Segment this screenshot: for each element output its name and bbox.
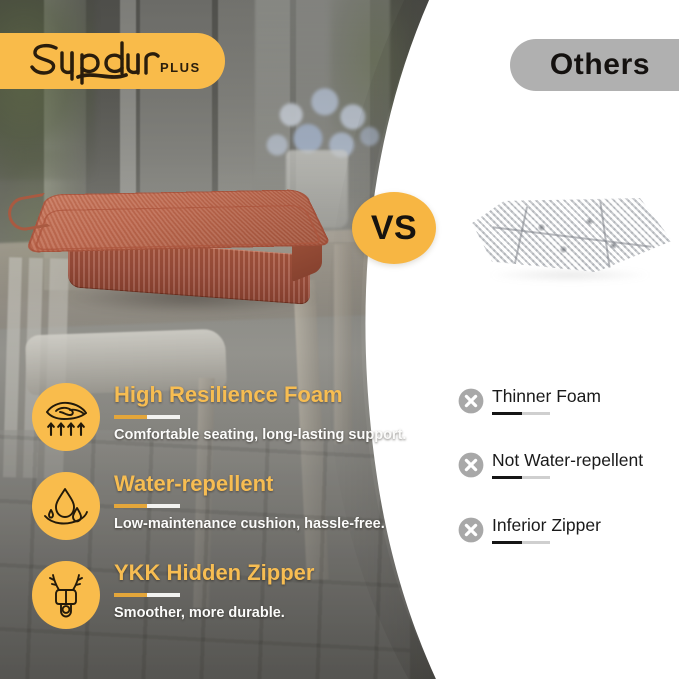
con-text-block: Thinner Foam (492, 384, 679, 415)
comparison-infographic: Others VS (0, 0, 679, 679)
hand-pressing-foam-icon (32, 383, 100, 451)
vs-label: VS (371, 209, 417, 248)
con-title: Thinner Foam (492, 384, 679, 408)
feature-item-high-resilience-foam: High Resilience Foam Comfortable seating… (32, 381, 428, 455)
con-item-inferior-zipper: Inferior Zipper (450, 515, 679, 567)
supdur-wordmark-icon (26, 39, 176, 85)
x-circle-icon (458, 388, 484, 414)
feature-title: Water-repellent (114, 470, 426, 498)
feature-text-block: YKK Hidden Zipper Smoother, more durable… (114, 559, 426, 623)
feature-text-block: High Resilience Foam Comfortable seating… (114, 381, 426, 445)
con-divider-rule (492, 412, 550, 415)
cons-list: Thinner Foam Not Water-repellent (450, 0, 679, 679)
feature-title: High Resilience Foam (114, 381, 426, 409)
x-circle-icon (458, 452, 484, 478)
logo-plus-label: PLUS (160, 60, 201, 75)
feature-subtitle: Low-maintenance cushion, hassle-free. (114, 515, 426, 534)
feature-divider-rule (114, 504, 180, 508)
feature-subtitle: Smoother, more durable. (114, 604, 426, 623)
feature-divider-rule (114, 593, 180, 597)
water-droplet-repel-icon (32, 472, 100, 540)
con-title: Not Water-repellent (492, 448, 679, 472)
con-item-not-water-repellent: Not Water-repellent (450, 450, 679, 502)
con-divider-rule (492, 476, 550, 479)
x-circle-icon (458, 517, 484, 543)
con-text-block: Inferior Zipper (492, 513, 679, 544)
feature-title: YKK Hidden Zipper (114, 559, 426, 587)
feature-item-water-repellent: Water-repellent Low-maintenance cushion,… (32, 470, 428, 544)
con-text-block: Not Water-repellent (492, 448, 679, 479)
vs-badge: VS (352, 192, 436, 264)
brand-logo-pill: PLUS (0, 33, 225, 89)
feature-item-ykk-hidden-zipper: YKK Hidden Zipper Smoother, more durable… (32, 559, 428, 633)
con-title: Inferior Zipper (492, 513, 679, 537)
feature-text-block: Water-repellent Low-maintenance cushion,… (114, 470, 426, 534)
zipper-icon (32, 561, 100, 629)
con-item-thinner-foam: Thinner Foam (450, 386, 679, 438)
feature-divider-rule (114, 415, 180, 419)
feature-subtitle: Comfortable seating, long-lasting suppor… (114, 426, 426, 445)
con-divider-rule (492, 541, 550, 544)
feature-list: High Resilience Foam Comfortable seating… (0, 0, 430, 679)
